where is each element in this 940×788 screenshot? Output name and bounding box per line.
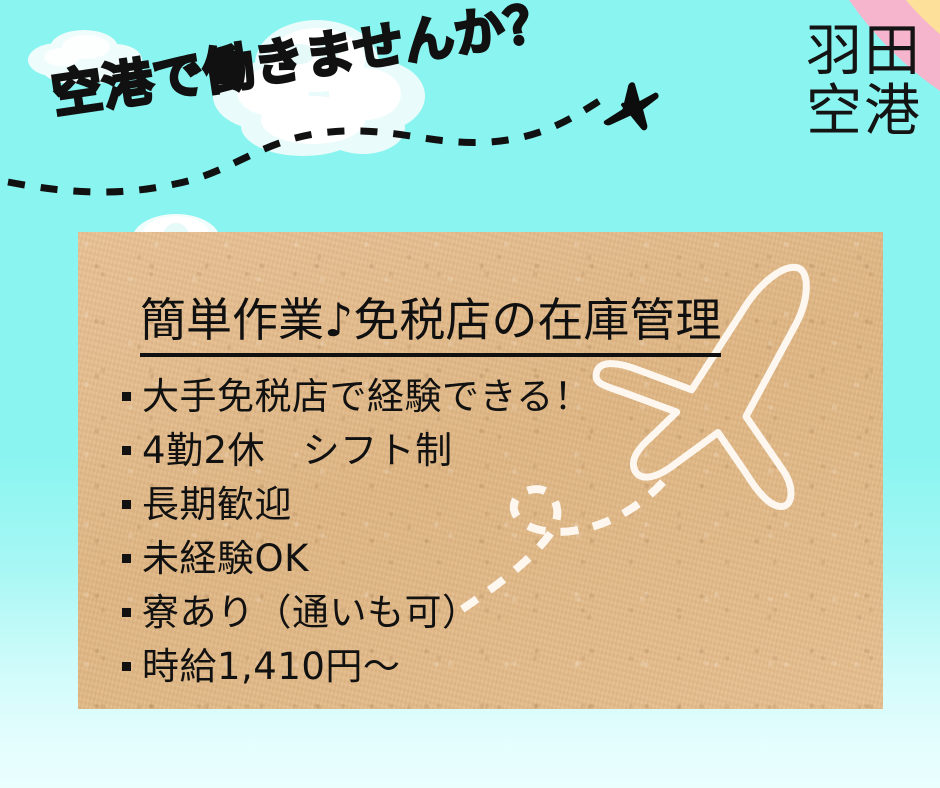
job-info-card: 簡単作業♪免税店の在庫管理 大手免税店で経験できる！ 4勤2休 シフト制 長期歓… bbox=[78, 232, 883, 709]
bullet-dot-icon bbox=[122, 500, 131, 509]
list-item-label: 4勤2休 シフト制 bbox=[142, 429, 453, 472]
list-item-label: 時給1,410円〜 bbox=[142, 645, 400, 688]
bullet-dot-icon bbox=[122, 662, 131, 671]
list-item-label: 未経験OK bbox=[142, 537, 309, 580]
poster-canvas: 羽田 空港 bbox=[0, 0, 940, 788]
airplane-icon bbox=[596, 78, 666, 140]
bullet-dot-icon bbox=[122, 446, 131, 455]
list-item: 長期歓迎 bbox=[122, 478, 591, 532]
list-item-label: 寮あり（通いも可） bbox=[142, 591, 480, 634]
airport-name-label: 羽田 空港 bbox=[806, 22, 922, 143]
list-item-label: 大手免税店で経験できる！ bbox=[142, 375, 591, 418]
card-title: 簡単作業♪免税店の在庫管理 bbox=[140, 284, 721, 357]
list-item: 4勤2休 シフト制 bbox=[122, 424, 591, 478]
bullet-dot-icon bbox=[122, 392, 131, 401]
list-item: 時給1,410円〜 bbox=[122, 640, 591, 694]
airport-name-line2: 空港 bbox=[806, 82, 922, 142]
bullet-dot-icon bbox=[122, 554, 131, 563]
job-benefit-list: 大手免税店で経験できる！ 4勤2休 シフト制 長期歓迎 未経験OK 寮あり（通い… bbox=[122, 370, 591, 694]
page-title: 空港で働きませんか？ bbox=[47, 0, 561, 128]
list-item: 未経験OK bbox=[122, 532, 591, 586]
list-item-label: 長期歓迎 bbox=[142, 483, 292, 526]
list-item: 大手免税店で経験できる！ bbox=[122, 370, 591, 424]
list-item: 寮あり（通いも可） bbox=[122, 586, 591, 640]
airport-name-line1: 羽田 bbox=[806, 22, 922, 82]
bullet-dot-icon bbox=[122, 608, 131, 617]
